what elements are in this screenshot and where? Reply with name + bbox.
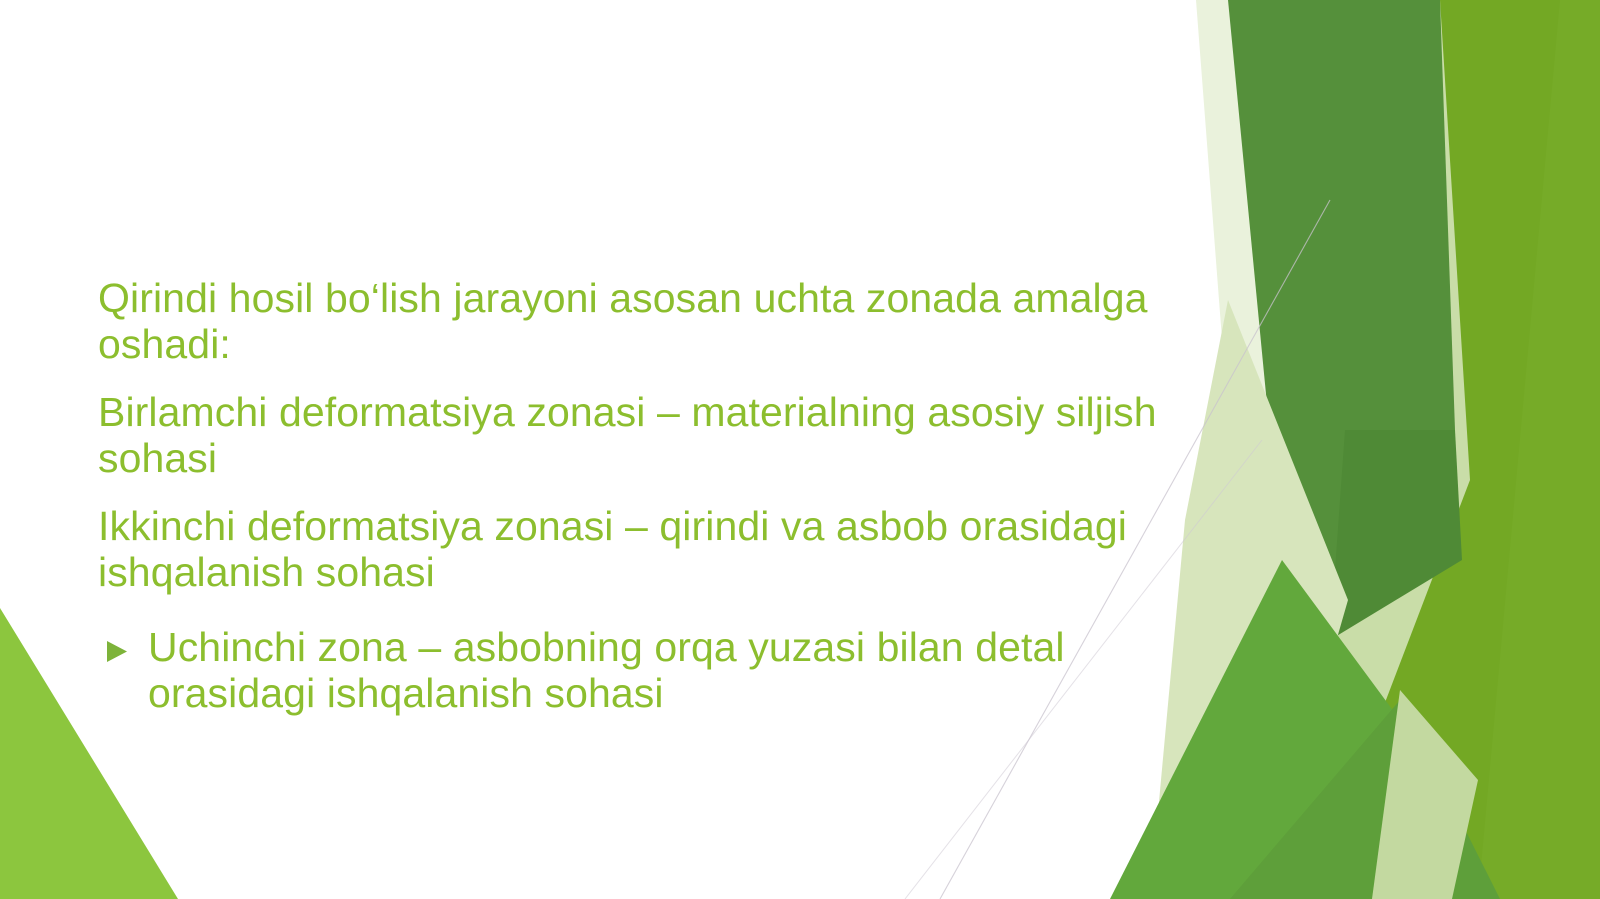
body-paragraph-4-text: Uchinchi zona – asbobning orqa yuzasi bi… — [148, 625, 1108, 717]
body-paragraph-3: Ikkinchi deformatsiya zonasi – qirindi v… — [98, 504, 1158, 596]
triangle-right-bullet-icon — [104, 639, 148, 665]
slide-content: Qirindi hosil bo‘lish jarayoni asosan uc… — [0, 0, 1600, 899]
body-paragraph-1: Qirindi hosil bo‘lish jarayoni asosan uc… — [98, 276, 1188, 368]
body-paragraph-2: Birlamchi deformatsiya zonasi – material… — [98, 390, 1193, 482]
body-text-placeholder[interactable]: Qirindi hosil bo‘lish jarayoni asosan uc… — [98, 276, 1203, 717]
body-paragraph-4: Uchinchi zona – asbobning orqa yuzasi bi… — [98, 625, 1203, 717]
slide-canvas: Qirindi hosil bo‘lish jarayoni asosan uc… — [0, 0, 1600, 899]
